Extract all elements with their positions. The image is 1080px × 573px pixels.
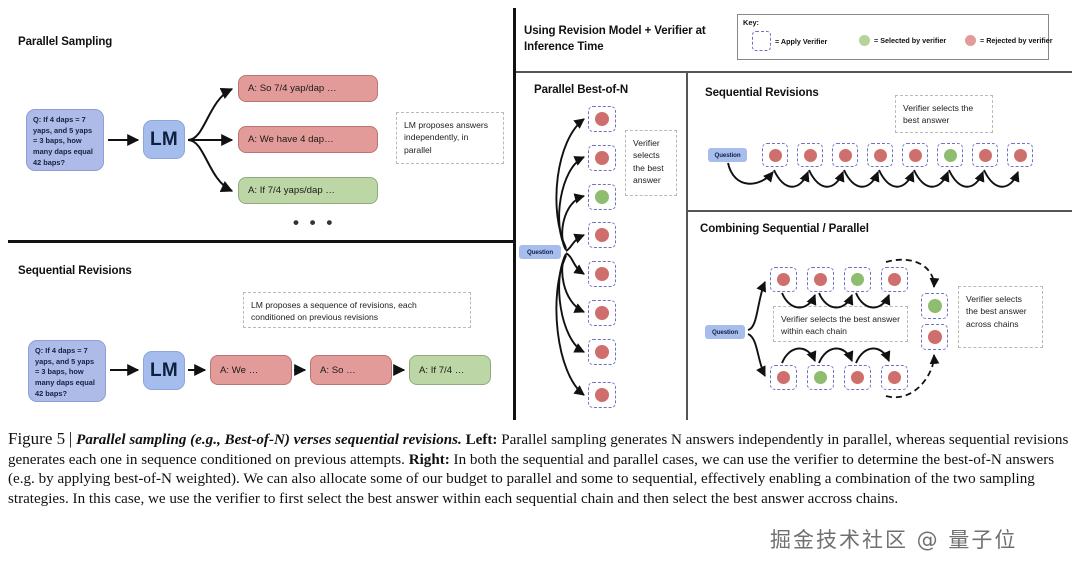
combining-top-node xyxy=(770,267,797,292)
sequential-question-box: Q: If 4 daps = 7 yaps, and 5 yaps = 3 ba… xyxy=(28,340,106,402)
sequential-answer-1: A: We … xyxy=(210,355,292,385)
combining-top-node xyxy=(844,267,871,292)
best-of-n-note: Verifier selects the best answer xyxy=(625,130,677,196)
rejected-dot-icon xyxy=(595,151,609,165)
combining-note-chain: Verifier selects the best answer within … xyxy=(773,306,908,342)
best-of-n-node xyxy=(588,222,616,248)
parallel-answer-3: A: If 7/4 yaps/dap … xyxy=(238,177,378,204)
best-of-n-node xyxy=(588,300,616,326)
rejected-dot-icon xyxy=(839,149,852,162)
sequential-revisions-title-right: Sequential Revisions xyxy=(705,87,819,99)
rejected-dot-icon xyxy=(595,112,609,126)
parallel-note: LM proposes answers independently, in pa… xyxy=(396,112,504,164)
sequential-node xyxy=(797,143,823,167)
rejected-dot-icon xyxy=(888,371,901,384)
right-column-divider xyxy=(686,72,688,420)
best-of-n-node xyxy=(588,382,616,408)
dashed-box-icon xyxy=(752,31,771,51)
parallel-sampling-title: Parallel Sampling xyxy=(18,36,112,48)
combining-top-node xyxy=(881,267,908,292)
rejected-dot-icon xyxy=(595,228,609,242)
sequential-note-left: LM proposes a sequence of revisions, eac… xyxy=(243,292,471,328)
key-item-label: = Selected by verifier xyxy=(874,36,946,45)
best-of-n-node xyxy=(588,339,616,365)
best-of-n-node xyxy=(588,261,616,287)
key-item-label: = Rejected by verifier xyxy=(980,36,1053,45)
right-panel-title: Using Revision Model + Verifier at Infer… xyxy=(524,24,724,55)
combining-top-node xyxy=(807,267,834,292)
selected-dot-icon xyxy=(851,273,864,286)
key-item-selected: = Selected by verifier xyxy=(859,35,946,46)
combining-title: Combining Sequential / Parallel xyxy=(700,223,869,235)
rejected-dot-icon xyxy=(888,273,901,286)
caption-title: Parallel sampling (e.g., Best-of-N) vers… xyxy=(76,432,462,448)
sequential-revisions-note: Verifier selects the best answer xyxy=(895,95,993,133)
figure-label: Figure 5 xyxy=(8,429,65,448)
best-of-n-node xyxy=(588,106,616,132)
rejected-dot-icon xyxy=(595,306,609,320)
combining-bottom-node xyxy=(844,365,871,390)
sequential-node xyxy=(867,143,893,167)
rejected-dot-icon xyxy=(851,371,864,384)
combining-finalist-node xyxy=(921,324,948,350)
parallel-answer-1: A: So 7/4 yap/dap … xyxy=(238,75,378,102)
rejected-dot-icon xyxy=(777,371,790,384)
combining-question-tag: Question xyxy=(705,325,745,339)
selected-dot-icon xyxy=(595,190,609,204)
sequential-node xyxy=(937,143,963,167)
key-item-apply-verifier: = Apply Verifier xyxy=(752,31,827,51)
rejected-dot-icon xyxy=(777,273,790,286)
rejected-dot-icon xyxy=(814,273,827,286)
right-row-divider xyxy=(687,210,1072,212)
selected-dot-icon xyxy=(928,299,942,313)
sequential-answer-2: A: So … xyxy=(310,355,392,385)
combining-finalist-node xyxy=(921,293,948,319)
figure-5-diagram: Parallel Sampling Q: If 4 daps = 7 yaps,… xyxy=(0,0,1080,424)
watermark: 掘金技术社区 @ 量子位 xyxy=(770,524,1017,554)
sequential-node xyxy=(1007,143,1033,167)
combining-bottom-node xyxy=(770,365,797,390)
combining-bottom-node xyxy=(881,365,908,390)
best-of-n-node xyxy=(588,145,616,171)
best-of-n-title: Parallel Best-of-N xyxy=(534,84,628,96)
right-header-divider xyxy=(516,71,1072,73)
caption-separator: | xyxy=(69,429,72,448)
sequential-revisions-question-tag: Question xyxy=(708,148,747,162)
caption-left-tag: Left: xyxy=(466,432,498,448)
combining-bottom-node xyxy=(807,365,834,390)
rejected-dot-icon xyxy=(1014,149,1027,162)
key-item-rejected: = Rejected by verifier xyxy=(965,35,1053,46)
rejected-dot-icon xyxy=(769,149,782,162)
sequential-lm-box: LM xyxy=(143,351,185,390)
rejected-dot-icon xyxy=(979,149,992,162)
rejected-dot-icon xyxy=(595,388,609,402)
caption-right-tag: Right: xyxy=(409,452,450,468)
best-of-n-node xyxy=(588,184,616,210)
combining-note-across: Verifier selects the best answer across … xyxy=(958,286,1043,348)
key-item-label: = Apply Verifier xyxy=(775,37,827,46)
sequential-revisions-title-left: Sequential Revisions xyxy=(18,265,132,277)
red-dot-icon xyxy=(965,35,976,46)
parallel-ellipsis: • • • xyxy=(293,213,335,233)
parallel-answer-2: A: We have 4 dap… xyxy=(238,126,378,153)
left-panel-horizontal-divider xyxy=(8,240,513,243)
rejected-dot-icon xyxy=(874,149,887,162)
rejected-dot-icon xyxy=(595,267,609,281)
best-of-n-question-tag: Question xyxy=(519,245,561,259)
selected-dot-icon xyxy=(814,371,827,384)
main-vertical-divider xyxy=(513,8,516,420)
parallel-question-box: Q: If 4 daps = 7 yaps, and 5 yaps = 3 ba… xyxy=(26,109,104,171)
rejected-dot-icon xyxy=(928,330,942,344)
sequential-node xyxy=(972,143,998,167)
green-dot-icon xyxy=(859,35,870,46)
sequential-answer-3: A: If 7/4 … xyxy=(409,355,491,385)
sequential-node xyxy=(902,143,928,167)
selected-dot-icon xyxy=(944,149,957,162)
key-legend: Key: = Apply Verifier = Selected by veri… xyxy=(737,14,1049,60)
rejected-dot-icon xyxy=(595,345,609,359)
key-label: Key: xyxy=(743,18,759,27)
sequential-node xyxy=(762,143,788,167)
figure-caption: Figure 5 | Parallel sampling (e.g., Best… xyxy=(8,428,1072,509)
rejected-dot-icon xyxy=(909,149,922,162)
sequential-node xyxy=(832,143,858,167)
parallel-lm-box: LM xyxy=(143,120,185,159)
rejected-dot-icon xyxy=(804,149,817,162)
